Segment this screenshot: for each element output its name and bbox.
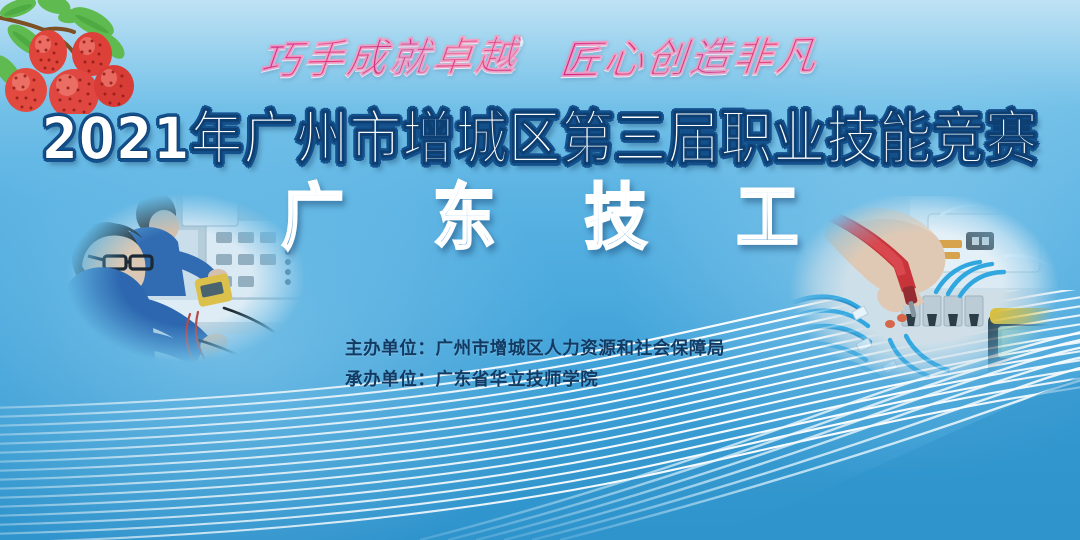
slogan-phrase-1: 巧手成就卓越: [257, 24, 522, 87]
subtitle-text: 广 东 技 工: [248, 159, 833, 263]
organizer-block: 主办单位：广州市增城区人力资源和社会保障局 承办单位：广东省华立技师学院: [345, 334, 725, 396]
photo-students-training-bench: [48, 180, 324, 376]
host-unit-line: 主办单位：广州市增城区人力资源和社会保障局: [345, 334, 725, 365]
lychee-fruit-cluster-icon: [0, 0, 146, 114]
photo-circuit-panel-testing: [790, 196, 1058, 380]
main-title-text: 2021年广州市增城区第三届职业技能竞赛: [42, 92, 1039, 176]
poster-canvas: 巧手成就卓越 匠心创造非凡 2021年广州市增城区第三届职业技能竞赛 广 东 技…: [0, 0, 1080, 540]
main-title: 2021年广州市增城区第三届职业技能竞赛: [0, 96, 1080, 171]
slogan-phrase-2: 匠心创造非凡: [558, 24, 823, 87]
organizer-unit-line: 承办单位：广东省华立技师学院: [345, 365, 725, 396]
slogan-calligraphy: 巧手成就卓越 匠心创造非凡: [0, 26, 1080, 84]
